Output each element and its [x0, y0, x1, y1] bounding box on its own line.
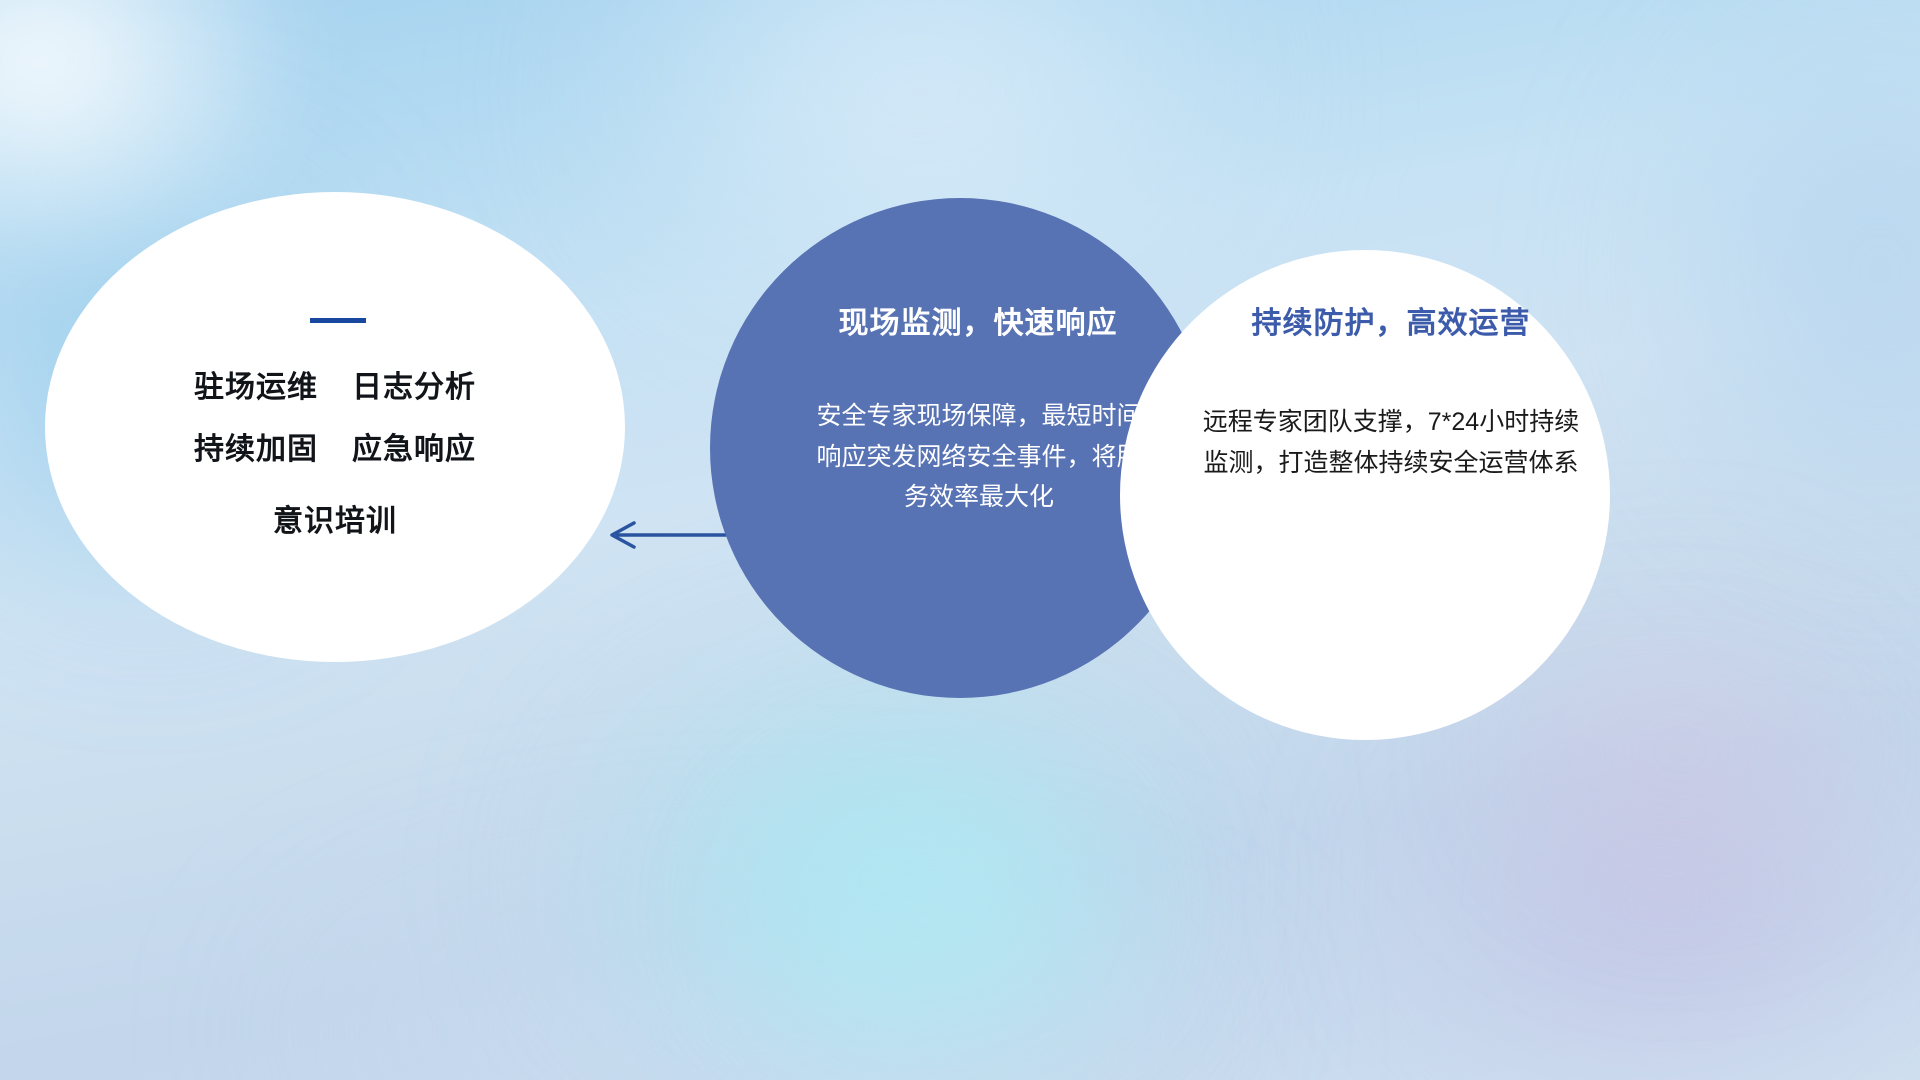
capabilities-content: 驻场运维 日志分析 持续加固 应急响应 意识培训	[45, 192, 625, 662]
keyword-item: 持续加固	[194, 435, 318, 465]
keyword-row: 持续加固 应急响应	[194, 435, 476, 465]
keyword-item: 驻场运维	[194, 373, 318, 403]
accent-dash-icon	[310, 318, 366, 323]
continuous-protection-body: 远程专家团队支撑，7*24小时持续监测，打造整体持续安全运营体系	[1191, 402, 1591, 483]
onsite-monitoring-title: 现场监测，快速响应	[839, 298, 1118, 342]
keyword-item: 应急响应	[352, 435, 476, 465]
continuous-protection-title: 持续防护，高效运营	[1252, 298, 1531, 342]
keyword-item: 意识培训	[273, 507, 397, 537]
slide-canvas: 驻场运维 日志分析 持续加固 应急响应 意识培训 现场监测，快速响应 安全专家现…	[0, 0, 1920, 1080]
keyword-row: 意识培训	[273, 507, 397, 537]
continuous-protection-content: 持续防护，高效运营 远程专家团队支撑，7*24小时持续监测，打造整体持续安全运营…	[1120, 250, 1610, 740]
keyword-row: 驻场运维 日志分析	[194, 373, 476, 403]
keyword-item: 日志分析	[352, 373, 476, 403]
onsite-monitoring-body: 安全专家现场保障，最短时间响应突发网络安全事件，将服务效率最大化	[809, 396, 1149, 518]
